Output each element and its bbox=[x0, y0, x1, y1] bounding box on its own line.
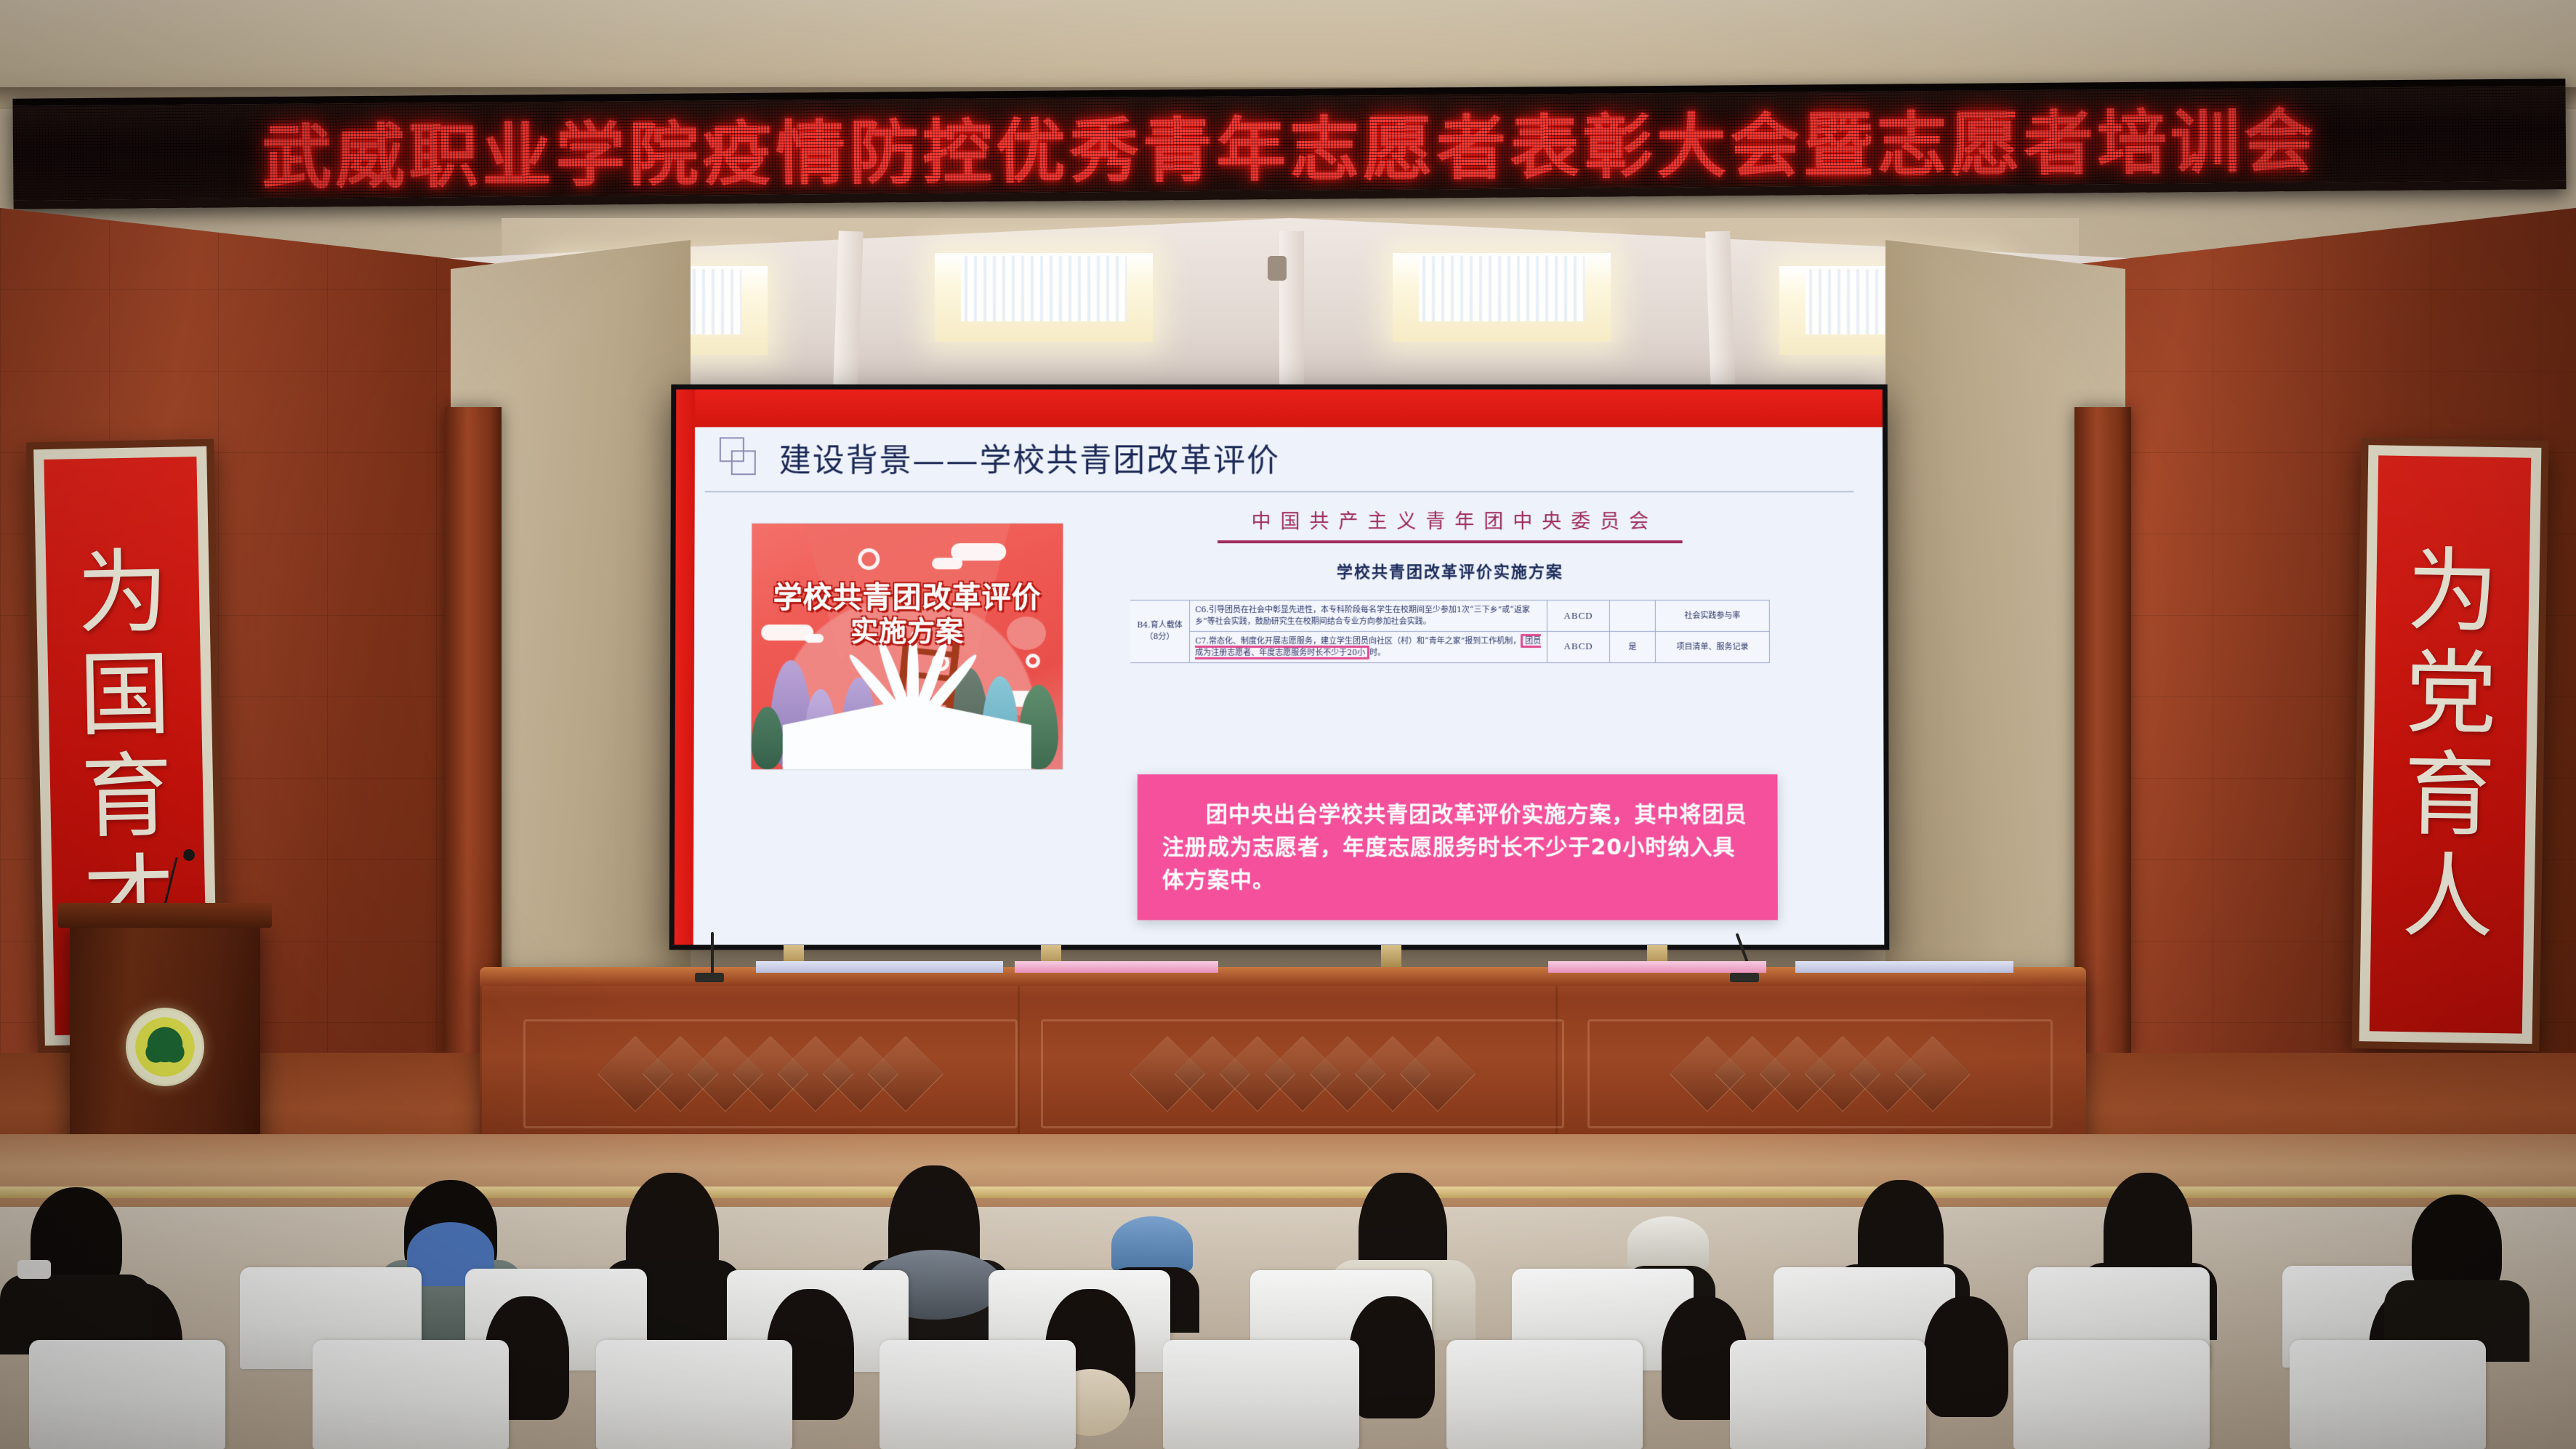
audience-member bbox=[0, 1187, 153, 1354]
document-organization: 中国共产主义青年团中央委员会 bbox=[1108, 505, 1791, 534]
document-on-table bbox=[1015, 961, 1218, 973]
criterion-prefix: C7.常态化、制度化开展志愿服务，建立学生团员向社区（村）和“青年之家”报到工作… bbox=[1195, 636, 1521, 646]
table-cell-yes: 是 bbox=[1610, 631, 1656, 662]
banner-red-field: 为 党 育 人 bbox=[2370, 455, 2531, 1033]
smoke-detector-icon bbox=[1268, 256, 1287, 281]
poster-title: 学校共青团改革评价 实施方案 bbox=[752, 582, 1063, 646]
audience-chair bbox=[596, 1340, 792, 1449]
highlight-callout-box: 团中央出台学校共青团改革评价实施方案，其中将团员注册成为志愿者，年度志愿服务时长… bbox=[1138, 774, 1778, 920]
banner-char: 国 bbox=[78, 649, 171, 742]
table-cell-yes bbox=[1609, 601, 1655, 632]
audience-chair bbox=[2290, 1340, 2486, 1449]
right-calligraphy-banner: 为 党 育 人 bbox=[2351, 438, 2548, 1051]
table-panel bbox=[523, 1019, 1018, 1128]
slide-title: 建设背景——学校共青团改革评价 bbox=[779, 434, 1280, 481]
table-row: B4.育人载体（8分） C6.引导团员在社会中彰显先进性，本专科阶段每名学生在校… bbox=[1130, 601, 1769, 632]
light-tubes bbox=[961, 256, 1127, 321]
table-microphone bbox=[711, 932, 714, 977]
table-cell-code: ABCD bbox=[1547, 601, 1610, 632]
banner-char: 为 bbox=[76, 547, 169, 640]
audience-member bbox=[2384, 1195, 2529, 1362]
slide-top-accent-bar bbox=[676, 390, 1883, 428]
table-cell-evidence: 社会实践参与率 bbox=[1655, 601, 1769, 632]
slide-title-divider bbox=[705, 491, 1853, 492]
poster-ring bbox=[1026, 654, 1040, 668]
name-plate bbox=[1381, 945, 1401, 967]
square-decoration-icon bbox=[720, 437, 760, 478]
audience-chair bbox=[1730, 1340, 1926, 1449]
ceiling-light-coffer bbox=[935, 253, 1153, 342]
microphone-base bbox=[695, 973, 724, 982]
audience-chair bbox=[880, 1340, 1076, 1449]
document-on-table bbox=[756, 961, 1003, 973]
audience-chair bbox=[2013, 1340, 2210, 1449]
soffit-rib bbox=[1279, 231, 1304, 391]
projection-screen: 建设背景——学校共青团改革评价 bbox=[669, 385, 1890, 950]
led-banner: 武威职业学院疫情防控优秀青年志愿者表彰大会暨志愿者培训会 bbox=[12, 79, 2566, 209]
poster-ring bbox=[858, 548, 880, 570]
presentation-slide: 建设背景——学校共青团改革评价 bbox=[675, 390, 1885, 945]
right-pilaster bbox=[2074, 407, 2131, 1061]
audience-chair bbox=[29, 1340, 225, 1449]
table-cell-code: ABCD bbox=[1547, 631, 1610, 662]
light-tubes bbox=[1419, 256, 1585, 321]
hair bbox=[1349, 1296, 1435, 1418]
school-emblem bbox=[126, 1008, 204, 1086]
evaluation-table: B4.育人载体（8分） C6.引导团员在社会中彰显先进性，本专科阶段每名学生在校… bbox=[1130, 600, 1770, 663]
table-cell-evidence: 项目清单、服务记录 bbox=[1655, 631, 1769, 662]
banner-char: 育 bbox=[2403, 749, 2496, 842]
document-subtitle: 学校共青团改革评价实施方案 bbox=[1108, 559, 1792, 582]
podium-microphone-head bbox=[183, 849, 195, 861]
table-panel bbox=[1587, 1019, 2053, 1128]
hair bbox=[1924, 1296, 2008, 1417]
ceiling-light-coffer bbox=[1393, 253, 1611, 342]
policy-document-figure: 中国共产主义青年团中央委员会 学校共青团改革评价实施方案 B4.育人载体（8分）… bbox=[1108, 505, 1792, 663]
document-rule bbox=[1217, 540, 1683, 543]
conference-hall-photo: 武威职业学院疫情防控优秀青年志愿者表彰大会暨志愿者培训会 为 国 育 才 为 党 bbox=[0, 0, 2576, 1449]
poster-title-line1: 学校共青团改革评价 bbox=[773, 581, 1042, 614]
audience-chair bbox=[313, 1340, 509, 1449]
table-cell-label: B4.育人载体（8分） bbox=[1130, 601, 1190, 663]
table-cell-criterion: C7.常态化、制度化开展志愿服务，建立学生团员向社区（村）和“青年之家”报到工作… bbox=[1190, 631, 1547, 662]
baseball-cap bbox=[1111, 1216, 1193, 1273]
led-banner-text: 武威职业学院疫情防控优秀青年志愿者表彰大会暨志愿者培训会 bbox=[254, 84, 2325, 201]
criterion-suffix: 时。 bbox=[1369, 648, 1385, 657]
face-mask bbox=[17, 1260, 51, 1279]
left-pilaster bbox=[445, 407, 502, 1061]
banner-char: 党 bbox=[2404, 647, 2497, 740]
audience-chair bbox=[1163, 1340, 1359, 1449]
poster-cloud bbox=[932, 558, 962, 569]
banner-char: 育 bbox=[80, 750, 173, 843]
banner-mat: 为 党 育 人 bbox=[2359, 445, 2542, 1044]
baseball-cap bbox=[1627, 1216, 1709, 1270]
document-on-table bbox=[1795, 961, 2013, 973]
podium-top bbox=[58, 903, 272, 928]
table-row: C7.常态化、制度化开展志愿服务，建立学生团员向社区（村）和“青年之家”报到工作… bbox=[1130, 631, 1769, 662]
slide-title-row: 建设背景——学校共青团改革评价 bbox=[720, 434, 1280, 481]
slide-left-accent-bar bbox=[675, 390, 696, 945]
document-on-table bbox=[1548, 961, 1766, 973]
banner-char: 为 bbox=[2406, 545, 2499, 638]
poster-title-line2: 实施方案 bbox=[752, 617, 1063, 646]
callout-text: 团中央出台学校共青团改革评价实施方案，其中将团员注册成为志愿者，年度志愿服务时长… bbox=[1162, 798, 1753, 896]
scheme-poster-image: 学校共青团改革评价 实施方案 bbox=[751, 523, 1064, 770]
audience-chair bbox=[1446, 1340, 1643, 1449]
table-cell-criterion: C6.引导团员在社会中彰显先进性，本专科阶段每名学生在校期间至少参加1次“三下乡… bbox=[1190, 601, 1547, 632]
microphone-base bbox=[1730, 973, 1759, 982]
banner-char: 人 bbox=[2402, 851, 2495, 944]
table-panel bbox=[1041, 1019, 1564, 1128]
emblem-tree-icon bbox=[142, 1024, 188, 1069]
